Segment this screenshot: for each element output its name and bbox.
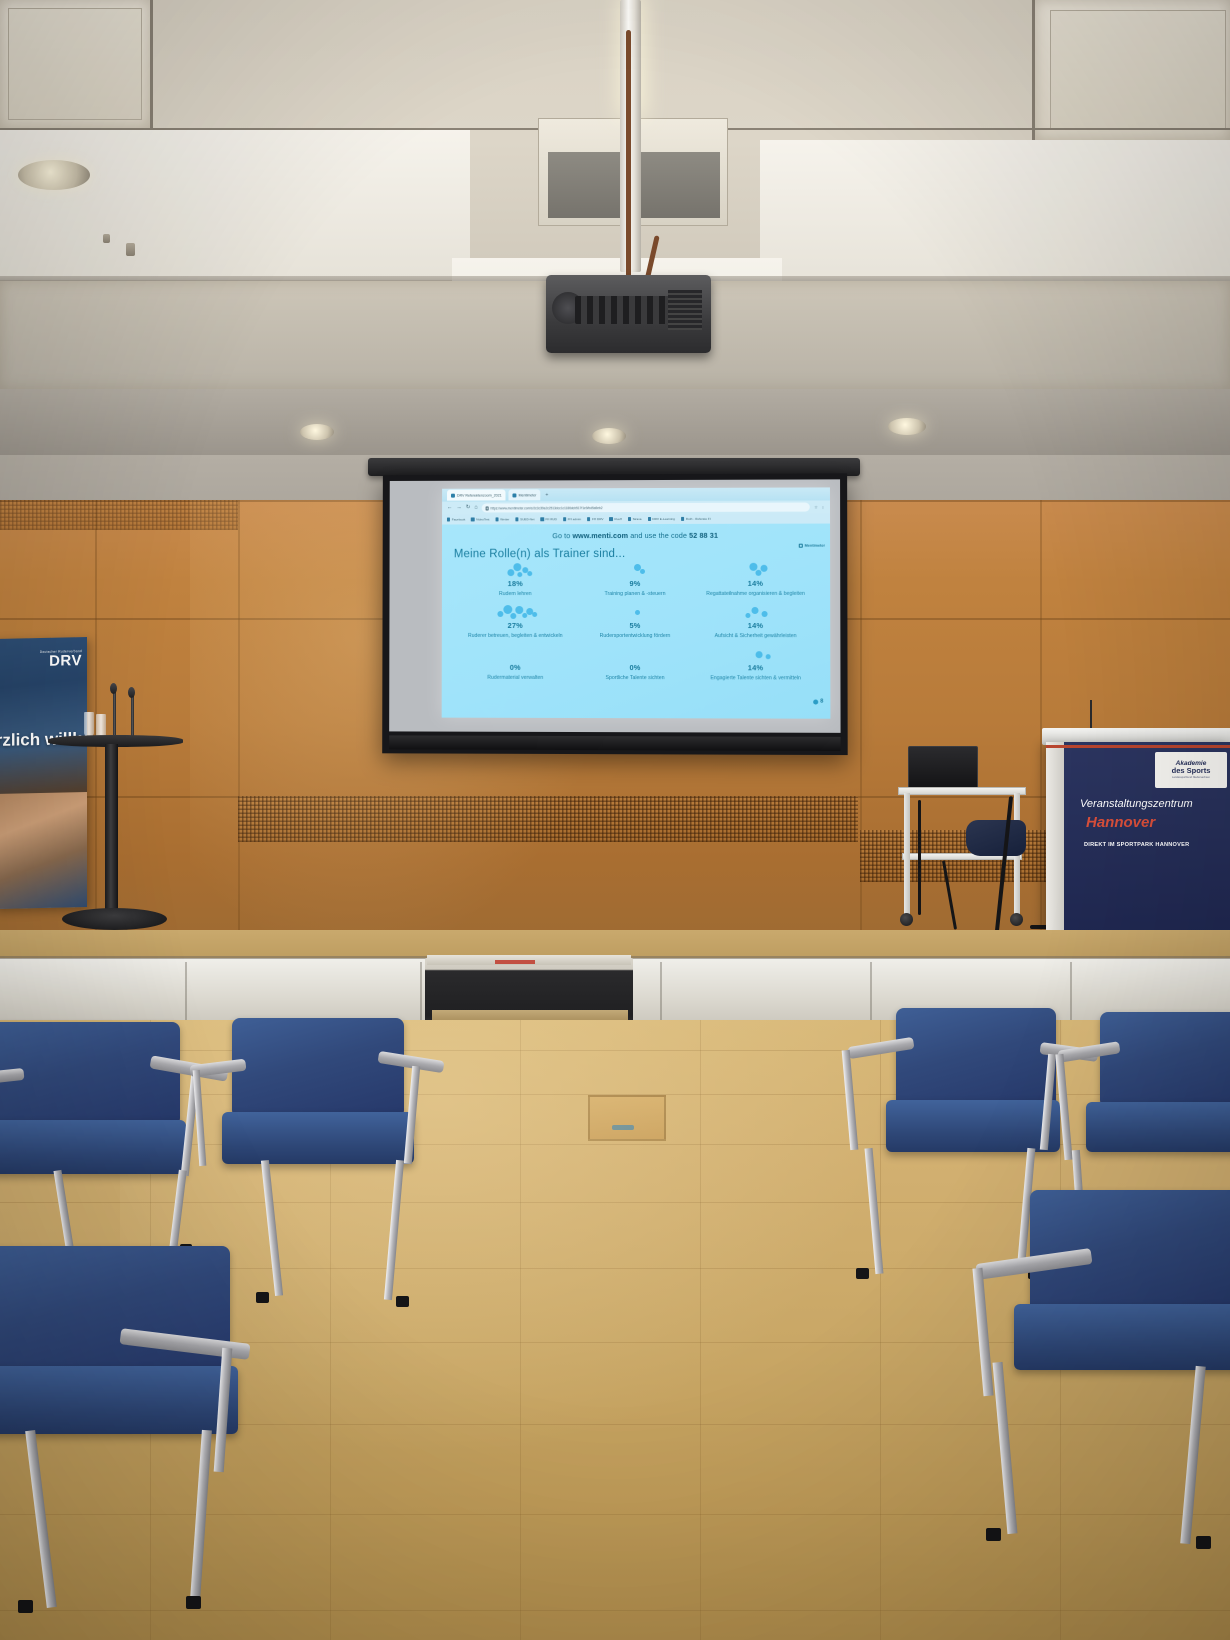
projector-cable xyxy=(626,30,631,280)
result-cell: 14% Engagierte Talente sichten & vermitt… xyxy=(695,648,816,681)
bookmark-label: FH admin xyxy=(568,517,581,521)
bookmark-item[interactable]: Ruth - Referate FI xyxy=(681,517,711,521)
bookmark-item[interactable]: Strava xyxy=(628,517,642,521)
bookmark-icon xyxy=(587,517,590,520)
bookmark-icon xyxy=(681,517,684,520)
dot-cluster xyxy=(695,605,816,623)
power-cable xyxy=(918,800,921,915)
result-value: 0% xyxy=(456,663,575,672)
ceiling-line xyxy=(1032,0,1035,140)
bookmark-star-icon[interactable]: ☆ xyxy=(814,505,818,510)
conference-room-photo: DRV Referentenzoom_2021 Mentimeter + ← →… xyxy=(0,0,1230,1640)
bookmark-label: SUED-Net xyxy=(520,517,534,521)
new-tab-button[interactable]: + xyxy=(545,492,548,498)
bookmark-label: Ruth - Referate FI xyxy=(686,517,711,521)
tab-favicon-icon xyxy=(451,493,455,497)
dot-cluster xyxy=(575,563,695,581)
projection-screen: DRV Referentenzoom_2021 Mentimeter + ← →… xyxy=(382,473,848,755)
browser-tab[interactable]: Mentimeter xyxy=(509,489,541,500)
bookmark-icon xyxy=(515,518,518,521)
mentimeter-brand: Mentimeter xyxy=(798,544,825,548)
cart-shelf-top xyxy=(898,787,1026,795)
result-label: Training planen & -steuern xyxy=(575,590,695,597)
ceiling-white-band-right xyxy=(760,140,1230,290)
result-label: Rudermaterial verwalten xyxy=(456,674,575,681)
equipment-bag xyxy=(966,820,1026,856)
dot-cluster xyxy=(456,605,575,623)
home-icon[interactable]: ⌂ xyxy=(474,505,477,510)
standing-table-post xyxy=(105,744,118,916)
bookmark-label: Ruuff xyxy=(614,517,621,521)
bookmark-item[interactable]: Ruuff xyxy=(609,517,621,521)
result-value: 0% xyxy=(575,663,695,672)
browser-tab-title: DRV Referentenzoom_2021 xyxy=(457,493,502,497)
ceiling-panel xyxy=(1050,10,1226,130)
bookmark-icon xyxy=(563,518,566,521)
result-label: Regattateilnahme organisieren & begleite… xyxy=(695,590,816,597)
result-cell: 0% Rudermaterial verwalten xyxy=(456,648,575,681)
address-bar-url: https://www.mentimeter.com/s/2c3c39a2c25… xyxy=(491,506,603,510)
drv-rollup-banner: Deutscher Ruderverband DRV Herzlich will… xyxy=(0,637,87,909)
bookmark-icon xyxy=(447,518,450,521)
cart-leg xyxy=(1014,793,1020,919)
bookmark-label: VideoTest xyxy=(476,517,489,521)
bookmark-label: FH DRV xyxy=(592,517,603,521)
screen-weight-bar xyxy=(389,735,840,751)
dot-cluster xyxy=(695,563,816,581)
bookmark-item[interactable]: SUED-Net xyxy=(515,517,534,521)
results-grid: 18% Rudern lehren 9% Training planen & -… xyxy=(442,564,831,682)
dot-cluster xyxy=(575,605,695,623)
ceiling-lower-beam xyxy=(0,389,1230,455)
cart-wheel xyxy=(1010,913,1023,926)
result-cell: 9% Training planen & -steuern xyxy=(575,564,695,597)
cart-leg xyxy=(904,793,910,919)
ceiling-white-band-left xyxy=(0,128,470,280)
projector-vent xyxy=(668,290,702,330)
acoustic-panel xyxy=(238,796,858,842)
menu-kebab-icon[interactable]: ⋮ xyxy=(821,504,825,509)
bookmark-icon xyxy=(495,518,498,521)
toolbar-actions[interactable]: ☆ ⋮ xyxy=(814,504,825,509)
bookmark-icon xyxy=(471,518,474,521)
microphone-head-icon xyxy=(128,687,135,698)
browser-tab-active[interactable]: DRV Referentenzoom_2021 xyxy=(447,490,506,501)
cta-prefix: Go to xyxy=(552,531,572,540)
bookmark-label: FH RUD xyxy=(545,517,557,521)
bookmark-item[interactable]: FH DRV xyxy=(587,517,603,521)
cta-middle: and use the code xyxy=(628,531,689,540)
floor-hatch-handle xyxy=(612,1125,634,1130)
bookmark-label: Wetter xyxy=(500,517,509,521)
lectern-line-2: Hannover xyxy=(1086,814,1155,831)
people-icon xyxy=(813,699,818,704)
result-cell: 18% Rudern lehren xyxy=(456,564,575,597)
sprinkler-icon xyxy=(103,234,110,243)
result-label: Rudern lehren xyxy=(456,591,575,598)
sprinkler-icon xyxy=(126,243,135,256)
bookmark-label: Facebook xyxy=(452,517,465,521)
address-bar[interactable]: https://www.mentimeter.com/s/2c3c39a2c25… xyxy=(482,503,811,513)
result-cell: 14% Regattateilnahme organisieren & begl… xyxy=(695,564,816,597)
dot-cluster xyxy=(456,563,575,581)
ceiling xyxy=(0,0,1230,470)
akademie-des-sports-logo: Akademie des Sports Landessportbund Nied… xyxy=(1155,752,1227,788)
acoustic-panel xyxy=(0,500,238,530)
standing-table-base xyxy=(62,908,167,930)
lectern-line-1: Veranstaltungszentrum xyxy=(1080,798,1230,810)
browser-tab-strip[interactable]: DRV Referentenzoom_2021 Mentimeter + xyxy=(442,487,830,501)
cart-wheel xyxy=(900,913,913,926)
browser-window[interactable]: DRV Referentenzoom_2021 Mentimeter + ← →… xyxy=(442,487,831,718)
bookmark-label: DRV E-Learning xyxy=(652,517,675,521)
mentimeter-slide: Go to www.menti.com and use the code 52 … xyxy=(442,524,831,719)
dot-cluster xyxy=(695,647,816,665)
result-cell: 5% Rudersportentwicklung fördern xyxy=(575,606,695,639)
bookmark-item[interactable]: VideoTest xyxy=(471,517,489,521)
mentimeter-logo-icon xyxy=(798,544,802,548)
bookmark-label: Strava xyxy=(633,517,642,521)
back-icon[interactable]: ← xyxy=(447,505,452,510)
lectern-side-panel xyxy=(1046,742,1064,938)
result-label: Aufsicht & Sicherheit gewährleisten xyxy=(695,633,816,640)
bookmark-item[interactable]: FH admin xyxy=(563,517,581,521)
participant-counter: 8 xyxy=(813,699,823,705)
downlight xyxy=(300,424,334,440)
forward-icon[interactable]: → xyxy=(456,505,461,510)
lectern-line-3: DIREKT IM SPORTPARK HANNOVER xyxy=(1084,842,1189,848)
microphone-head-icon xyxy=(110,683,117,694)
bookmark-item[interactable]: Facebook xyxy=(447,517,465,521)
tab-favicon-icon xyxy=(513,493,517,497)
result-label: Ruderer betreuen, begleiten & entwickeln xyxy=(456,632,575,639)
bookmark-icon xyxy=(609,517,612,520)
lectern-accent-stripe xyxy=(1046,745,1230,748)
projection-surface: DRV Referentenzoom_2021 Mentimeter + ← →… xyxy=(389,479,840,733)
mentimeter-brand-label: Mentimeter xyxy=(805,544,825,548)
downlight xyxy=(18,160,90,190)
ceiling-line xyxy=(150,0,153,128)
result-label: Sportliche Talente sichten xyxy=(575,674,695,681)
step-warning-label xyxy=(495,960,535,964)
bookmark-icon xyxy=(628,517,631,520)
browser-tab-title: Mentimeter xyxy=(519,493,537,497)
result-label: Engagierte Talente sichten & vermitteln xyxy=(695,675,816,682)
result-label: Rudersportentwicklung fördern xyxy=(575,632,695,639)
reload-icon[interactable]: ↻ xyxy=(466,505,471,510)
ceiling-panel xyxy=(8,8,142,120)
result-cell: 27% Ruderer betreuen, begleiten & entwic… xyxy=(456,606,575,639)
bookmark-icon xyxy=(648,517,651,520)
browser-toolbar[interactable]: ← → ↻ ⌂ https://www.mentimeter.com/s/2c3… xyxy=(442,500,830,514)
drinking-glass xyxy=(84,712,94,736)
slide-title: Meine Rolle(n) als Trainer sind... xyxy=(454,548,830,561)
bookmark-icon xyxy=(540,518,543,521)
drv-logo: Deutscher Ruderverband DRV xyxy=(40,649,82,669)
result-cell: 14% Aufsicht & Sicherheit gewährleisten xyxy=(695,606,816,639)
banner-photo xyxy=(0,792,87,909)
floor-hatch xyxy=(588,1095,666,1141)
bookmark-item[interactable]: DRV E-Learning xyxy=(648,517,675,521)
lock-icon xyxy=(486,506,489,510)
cta-code: 52 88 31 xyxy=(689,531,718,540)
result-cell: 0% Sportliche Talente sichten xyxy=(575,648,695,681)
participant-count-value: 8 xyxy=(820,699,823,705)
cta-site: www.menti.com xyxy=(572,531,628,540)
logo-subtitle: Landessportbund Niedersachsen xyxy=(1172,777,1210,780)
downlight xyxy=(888,418,926,435)
downlight xyxy=(592,428,626,444)
menti-join-instruction: Go to www.menti.com and use the code 52 … xyxy=(442,524,830,541)
logo-line-2: des Sports xyxy=(1172,767,1211,775)
bookmark-item[interactable]: Wetter xyxy=(495,517,509,521)
bookmark-item[interactable]: FH RUD xyxy=(540,517,557,521)
drv-logo-text: DRV xyxy=(40,653,82,669)
